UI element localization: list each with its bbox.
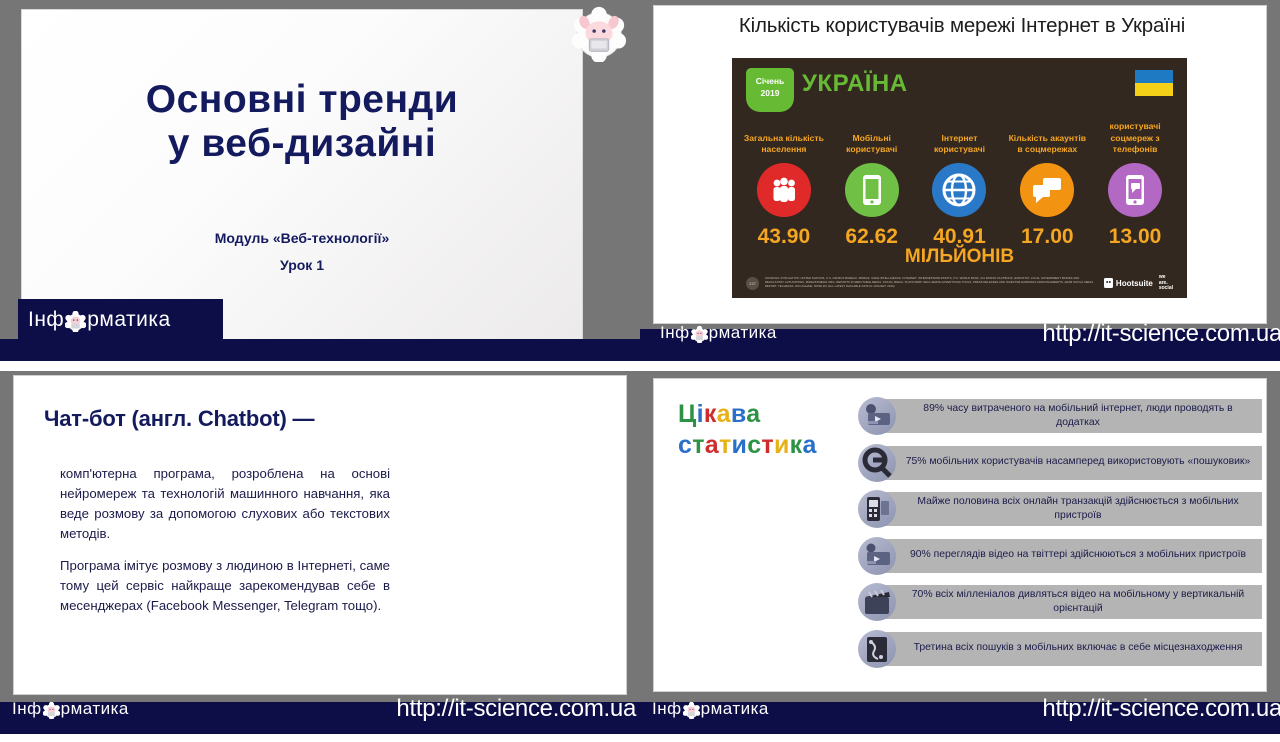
metric-column: Мобільні користувачі 62.62 bbox=[828, 120, 916, 249]
list-item: Третина всіх пошуків з мобільних включає… bbox=[858, 630, 1262, 668]
title-letter: и bbox=[732, 431, 748, 459]
metric-label: Кількість акаунтів в соцмережах bbox=[1003, 120, 1091, 156]
brand-logo: Інф рматика bbox=[648, 696, 828, 722]
mobile-phone-icon bbox=[845, 163, 899, 217]
slide1-footer-bar bbox=[0, 339, 640, 361]
metric-column: Кількість акаунтів в соцмережах 17.00 bbox=[1003, 120, 1091, 249]
list-item: 89% часу витраченого на мобільний інтерн… bbox=[858, 397, 1262, 435]
list-item: Майже половина всіх онлайн транзакцій зд… bbox=[858, 490, 1262, 528]
metric-column: користувачі соцмереж з телефонів 13.00 bbox=[1091, 120, 1179, 249]
clapperboard-icon bbox=[858, 583, 896, 621]
title-line-2: у веб-дизайні bbox=[22, 122, 582, 166]
subtitle-line-2: Урок 1 bbox=[22, 252, 582, 279]
sheep-logo-icon bbox=[65, 311, 86, 332]
stat-bar: Майже половина всіх онлайн транзакцій зд… bbox=[882, 492, 1262, 526]
title-letter: с bbox=[678, 431, 692, 459]
sheep-logo-icon bbox=[43, 702, 60, 719]
source-text: SOURCES: POPULATION: UNITED NATIONS, U.S… bbox=[765, 277, 1098, 290]
metric-label: Загальна кількість населення bbox=[740, 120, 828, 156]
metric-column: Інтернет користувачі 40.91 bbox=[916, 120, 1004, 249]
title-letter: а bbox=[705, 431, 719, 459]
title-letter: і bbox=[697, 400, 704, 428]
slides-grid: Основні тренди у веб-дизайні Модуль «Веб… bbox=[0, 0, 1280, 742]
was-l3: social bbox=[1159, 286, 1173, 291]
globe-icon bbox=[932, 163, 986, 217]
site-url[interactable]: http://it-science.com.ua bbox=[396, 695, 636, 723]
title-letter: с bbox=[747, 431, 761, 459]
brand-logo-text: Інф рматика bbox=[652, 699, 769, 719]
stat-bar: 75% мобільних користувачів насамперед ви… bbox=[882, 446, 1262, 480]
list-item: 75% мобільних користувачів насамперед ви… bbox=[858, 444, 1262, 482]
logo-text-after: рматика bbox=[87, 308, 171, 332]
date-badge: Січень 2019 bbox=[746, 68, 794, 112]
statistics-list: 89% часу витраченого на мобільний інтерн… bbox=[858, 397, 1262, 676]
units-label: МІЛЬЙОНІВ bbox=[732, 246, 1187, 268]
metric-label: користувачі соцмереж з телефонів bbox=[1091, 120, 1179, 156]
metric-label: Інтернет користувачі bbox=[916, 120, 1004, 156]
slide-title: Основні тренди у веб-дизайні Модуль «Веб… bbox=[0, 0, 640, 371]
title-letter: к bbox=[704, 400, 717, 428]
list-item: 70% всіх мілленіалов дивляться відео на … bbox=[858, 583, 1262, 621]
slide3-paragraph-2: Програма імітує розмову з людиною в Інте… bbox=[60, 556, 390, 616]
slide2-gap bbox=[640, 361, 1280, 371]
slide4-footer-bar: Інф рматика http://it-science.com.ua bbox=[640, 702, 1280, 734]
sheep-logo-icon bbox=[691, 326, 708, 343]
infographic-columns: Загальна кількість населення 43.90 Мобіл… bbox=[740, 120, 1179, 249]
title-letter: а bbox=[802, 431, 816, 459]
stat-text: Третина всіх пошуків з мобільних включає… bbox=[914, 641, 1243, 655]
source-badge: 237 bbox=[746, 277, 759, 290]
title-letter: а bbox=[717, 400, 731, 428]
logo-text-before: Інф bbox=[28, 308, 64, 332]
slide4-gap bbox=[640, 734, 1280, 742]
country-label: УКРАЇНА bbox=[802, 70, 908, 98]
sheep-logo-icon bbox=[683, 702, 700, 719]
mobile-chat-icon bbox=[1108, 163, 1162, 217]
slide2-card: Кількість користувачів мережі Інтернет в… bbox=[654, 6, 1266, 323]
logo-text-before: Інф bbox=[652, 699, 682, 719]
badge-month: Січень bbox=[746, 75, 794, 87]
slide-chatbot: Чат-бот (англ. Chatbot) — комп'ютерна пр… bbox=[0, 371, 640, 742]
title-letter: к bbox=[790, 431, 803, 459]
stat-text: 90% переглядів відео на твіттері здійсню… bbox=[910, 548, 1246, 562]
metric-column: Загальна кількість населення 43.90 bbox=[740, 120, 828, 249]
slide2-footer-bar: Інф рматика http://it-science.com.ua bbox=[640, 329, 1280, 361]
site-url[interactable]: http://it-science.com.ua bbox=[1042, 695, 1280, 723]
title-line-1: Основні тренди bbox=[22, 78, 582, 122]
ukraine-flag-icon bbox=[1135, 70, 1173, 96]
slide-internet-users: Кількість користувачів мережі Інтернет в… bbox=[640, 0, 1280, 371]
stat-bar: 89% часу витраченого на мобільний інтерн… bbox=[882, 399, 1262, 433]
sheep-mascot-icon bbox=[570, 4, 628, 62]
wearesocial-logo: we are. social bbox=[1159, 275, 1173, 291]
title-letter: и bbox=[774, 431, 790, 459]
slide3-paragraph-1: комп'ютерна програма, розроблена на осно… bbox=[60, 464, 390, 544]
brand-logo-text: Інф рматика bbox=[12, 699, 129, 719]
title-letter: т bbox=[719, 431, 732, 459]
slide3-footer-bar: Інф рматика http://it-science.com.ua bbox=[0, 702, 640, 734]
logo-text-after: рматика bbox=[709, 323, 777, 343]
title-letter: Ц bbox=[678, 400, 697, 428]
page-title: Основні тренди у веб-дизайні bbox=[22, 78, 582, 165]
slide3-heading: Чат-бот (англ. Chatbot) — bbox=[44, 406, 384, 432]
stat-text: 75% мобільних користувачів насамперед ви… bbox=[906, 455, 1251, 469]
hootsuite-logo: Hootsuite bbox=[1104, 278, 1153, 288]
title-letter: в bbox=[731, 400, 746, 428]
mobile-payment-icon bbox=[858, 490, 896, 528]
logo-text-after: рматика bbox=[701, 699, 769, 719]
brand-logo: Інф рматика bbox=[8, 696, 188, 722]
title-line-1: Цікава bbox=[678, 399, 878, 430]
title-line-2: статистика bbox=[678, 430, 878, 461]
people-icon bbox=[757, 163, 811, 217]
stat-text: 89% часу витраченого на мобільний інтерн… bbox=[904, 402, 1252, 430]
stat-bar: Третина всіх пошуків з мобільних включає… bbox=[882, 632, 1262, 666]
metric-label: Мобільні користувачі bbox=[828, 120, 916, 156]
slide3-gap bbox=[0, 734, 640, 742]
subtitle-line-1: Модуль «Веб-технології» bbox=[22, 225, 582, 252]
infographic-sources: 237 SOURCES: POPULATION: UNITED NATIONS,… bbox=[746, 275, 1173, 291]
title-letter: т bbox=[761, 431, 774, 459]
brand-logo-text: Інф рматика bbox=[660, 323, 777, 343]
brand-logo: Інф рматика bbox=[18, 299, 223, 341]
video-player-icon bbox=[858, 397, 896, 435]
slide1-gap bbox=[0, 361, 640, 371]
slide1-subtitle: Модуль «Веб-технології» Урок 1 bbox=[22, 225, 582, 278]
site-url[interactable]: http://it-science.com.ua bbox=[1042, 320, 1280, 348]
infographic: Січень 2019 УКРАЇНА Загальна кількість н… bbox=[732, 58, 1187, 298]
hootsuite-text: Hootsuite bbox=[1116, 279, 1153, 288]
logo-text-before: Інф bbox=[12, 699, 42, 719]
slide2-heading: Кількість користувачів мережі Інтернет в… bbox=[666, 14, 1258, 38]
video-play-icon bbox=[858, 537, 896, 575]
brand-logo: Інф рматика bbox=[652, 319, 832, 347]
logo-text-after: рматика bbox=[61, 699, 129, 719]
stat-text: 70% всіх мілленіалов дивляться відео на … bbox=[904, 588, 1252, 616]
stat-text: Майже половина всіх онлайн транзакцій зд… bbox=[904, 495, 1252, 523]
slide-statistics: Цікава статистика 89% часу витраченого н… bbox=[640, 371, 1280, 742]
title-letter: т bbox=[692, 431, 705, 459]
search-magnifier-icon bbox=[858, 444, 896, 482]
slide4-card: Цікава статистика 89% часу витраченого н… bbox=[654, 379, 1266, 691]
map-location-icon bbox=[858, 630, 896, 668]
stat-bar: 70% всіх мілленіалов дивляться відео на … bbox=[882, 585, 1262, 619]
chat-bubbles-icon bbox=[1020, 163, 1074, 217]
slide3-card: Чат-бот (англ. Chatbot) — комп'ютерна пр… bbox=[14, 376, 626, 694]
brand-logo-text: Інф рматика bbox=[28, 308, 171, 332]
page-title: Цікава статистика bbox=[678, 399, 878, 462]
list-item: 90% переглядів відео на твіттері здійсню… bbox=[858, 537, 1262, 575]
badge-year: 2019 bbox=[746, 87, 794, 99]
slide1-card: Основні тренди у веб-дизайні Модуль «Веб… bbox=[22, 10, 582, 340]
stat-bar: 90% переглядів відео на твіттері здійсню… bbox=[882, 539, 1262, 573]
logo-text-before: Інф bbox=[660, 323, 690, 343]
title-letter: а bbox=[746, 400, 760, 428]
